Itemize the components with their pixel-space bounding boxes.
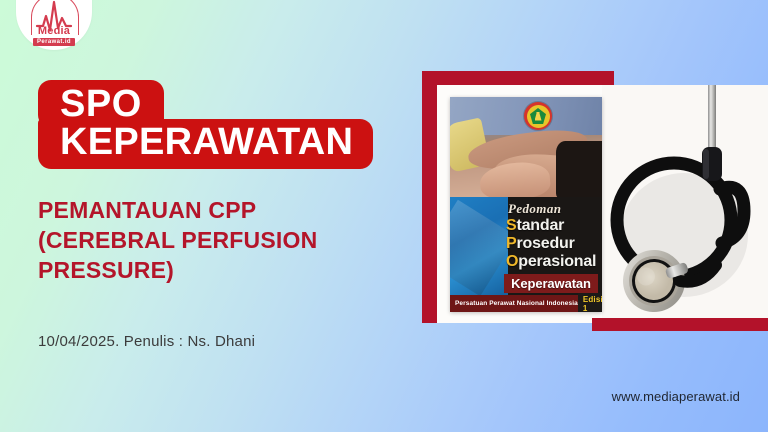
stethoscope-icon [602, 85, 768, 323]
headline-keperawatan: KEPERAWATAN [38, 119, 373, 169]
photo-dark-corner [556, 141, 602, 199]
book-pedoman-text: Pedoman [508, 201, 561, 217]
poster-canvas: Media Perawat.id SPO KEPERAWATAN PEMANTA… [0, 0, 768, 432]
book-footer-band: Persatuan Perawat Nasional Indonesia Edi… [450, 295, 602, 312]
byline-date-author: 10/04/2025. Penulis : Ns. Dhani [38, 333, 255, 350]
website-url: www.mediaperawat.id [612, 389, 740, 404]
book-cover-photo [450, 97, 602, 199]
book-organisation: Persatuan Perawat Nasional Indonesia [450, 300, 578, 307]
book-cover-body: Pedoman Standar Prosedur Operasional Kep… [450, 197, 602, 312]
book-keperawatan-band: Keperawatan [504, 274, 598, 293]
book-line-standar: Standar [506, 218, 564, 234]
book-edition-badge: Edisi 1 [578, 293, 602, 313]
logo-inner: Media Perawat.id [19, 0, 89, 50]
emblem-lamp [535, 112, 542, 121]
logo-subwordmark: Perawat.id [33, 38, 75, 46]
page-subtitle: PEMANTAUAN CPP (CEREBRAL PERFUSION PRESS… [38, 196, 398, 286]
brand-logo[interactable]: Media Perawat.id [16, 0, 92, 50]
book-line-prosedur: Prosedur [506, 236, 575, 252]
photo-card: Pedoman Standar Prosedur Operasional Kep… [437, 85, 768, 323]
ppni-emblem-icon [524, 102, 552, 130]
book-blue-panel [450, 197, 508, 295]
book-keperawatan-text: Keperawatan [511, 276, 591, 291]
book-cover: Pedoman Standar Prosedur Operasional Kep… [450, 97, 602, 312]
red-accent-bar [592, 318, 768, 331]
book-line-operasional: Operasional [506, 254, 596, 270]
emblem-pentagon [530, 108, 546, 124]
logo-wordmark: Media [38, 26, 70, 37]
emblem-ring [527, 105, 550, 128]
